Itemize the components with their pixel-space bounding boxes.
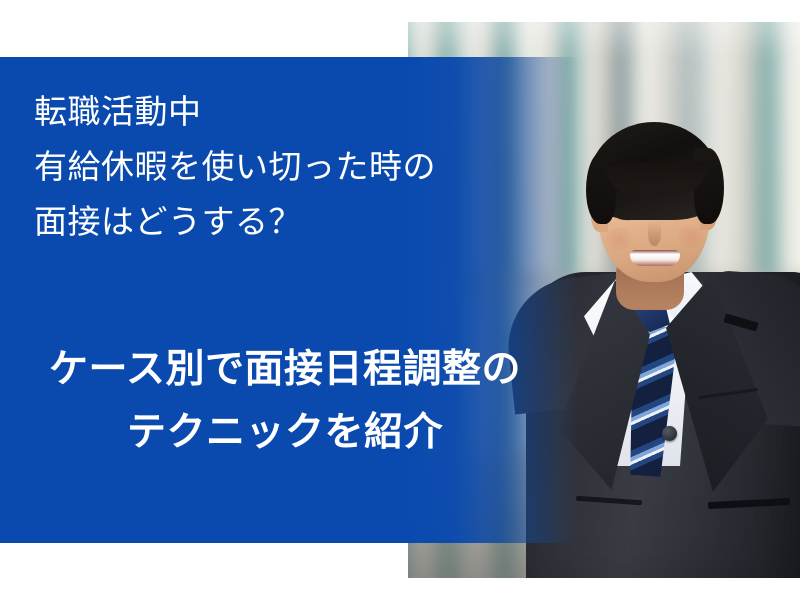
cheek-left	[606, 228, 632, 250]
hair-side-right	[694, 148, 724, 224]
headline-line-1: 転職活動中	[34, 84, 574, 139]
cheek-right	[678, 226, 704, 248]
subheadline: ケース別で面接日程調整の テクニックを紹介	[0, 338, 570, 464]
suit-button	[662, 426, 677, 441]
headline: 転職活動中 有給休暇を使い切った時の 面接はどうする？	[34, 84, 574, 249]
smiling-mouth	[630, 250, 680, 266]
nose	[648, 222, 661, 246]
headline-line-2: 有給休暇を使い切った時の	[34, 139, 574, 194]
headline-line-3: 面接はどうする？	[34, 194, 574, 249]
subheadline-line-1: ケース別で面接日程調整の	[0, 338, 570, 401]
banner-canvas: 転職活動中 有給休暇を使い切った時の 面接はどうする？ ケース別で面接日程調整の…	[0, 0, 800, 600]
subheadline-line-2: テクニックを紹介	[0, 401, 570, 464]
